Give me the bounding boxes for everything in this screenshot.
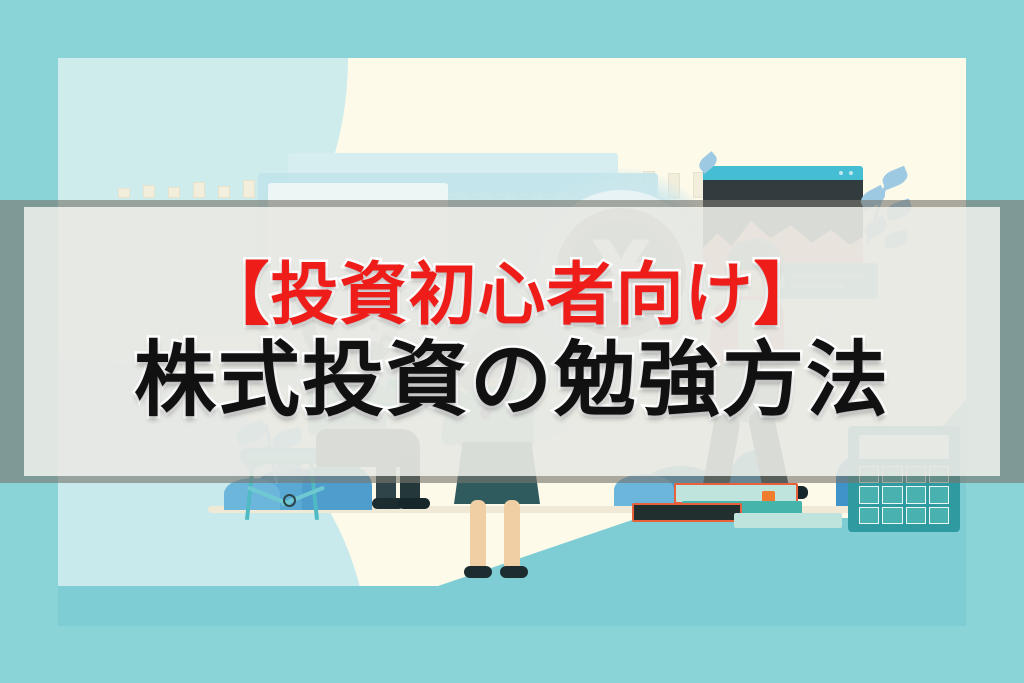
- book-bottom: [734, 513, 842, 528]
- p2-leg-left: [470, 500, 486, 572]
- bar-2: [143, 185, 155, 198]
- calculator-key-11: [906, 507, 926, 524]
- p2-shoe-left: [464, 566, 492, 578]
- calculator-key-8: [929, 486, 949, 503]
- headline-group: 【投資初心者向け】 株式投資の勉強方法: [0, 200, 1024, 483]
- bar-6: [243, 180, 255, 198]
- headline-red: 【投資初心者向け】: [201, 262, 822, 330]
- p1-shoe-right: [398, 498, 430, 509]
- calculator-key-6: [882, 486, 902, 503]
- bar-1: [118, 188, 130, 198]
- browser-dot-2: [849, 171, 853, 175]
- book-dark: [632, 503, 742, 522]
- bar-3: [168, 187, 180, 198]
- calculator-key-5: [859, 486, 879, 503]
- bar-4: [193, 182, 205, 198]
- browser-titlebar: [703, 166, 863, 180]
- headline-black: 株式投資の勉強方法: [134, 340, 890, 422]
- browser-dot-1: [839, 171, 843, 175]
- p2-shoe-right: [500, 566, 528, 578]
- calculator-key-9: [859, 507, 879, 524]
- banner-image: ¥: [0, 0, 1024, 683]
- leaf-a1: [880, 166, 910, 191]
- calculator-key-7: [906, 486, 926, 503]
- p2-leg-right: [504, 500, 520, 572]
- calculator-key-12: [929, 507, 949, 524]
- calculator-key-10: [882, 507, 902, 524]
- bar-5: [218, 186, 230, 198]
